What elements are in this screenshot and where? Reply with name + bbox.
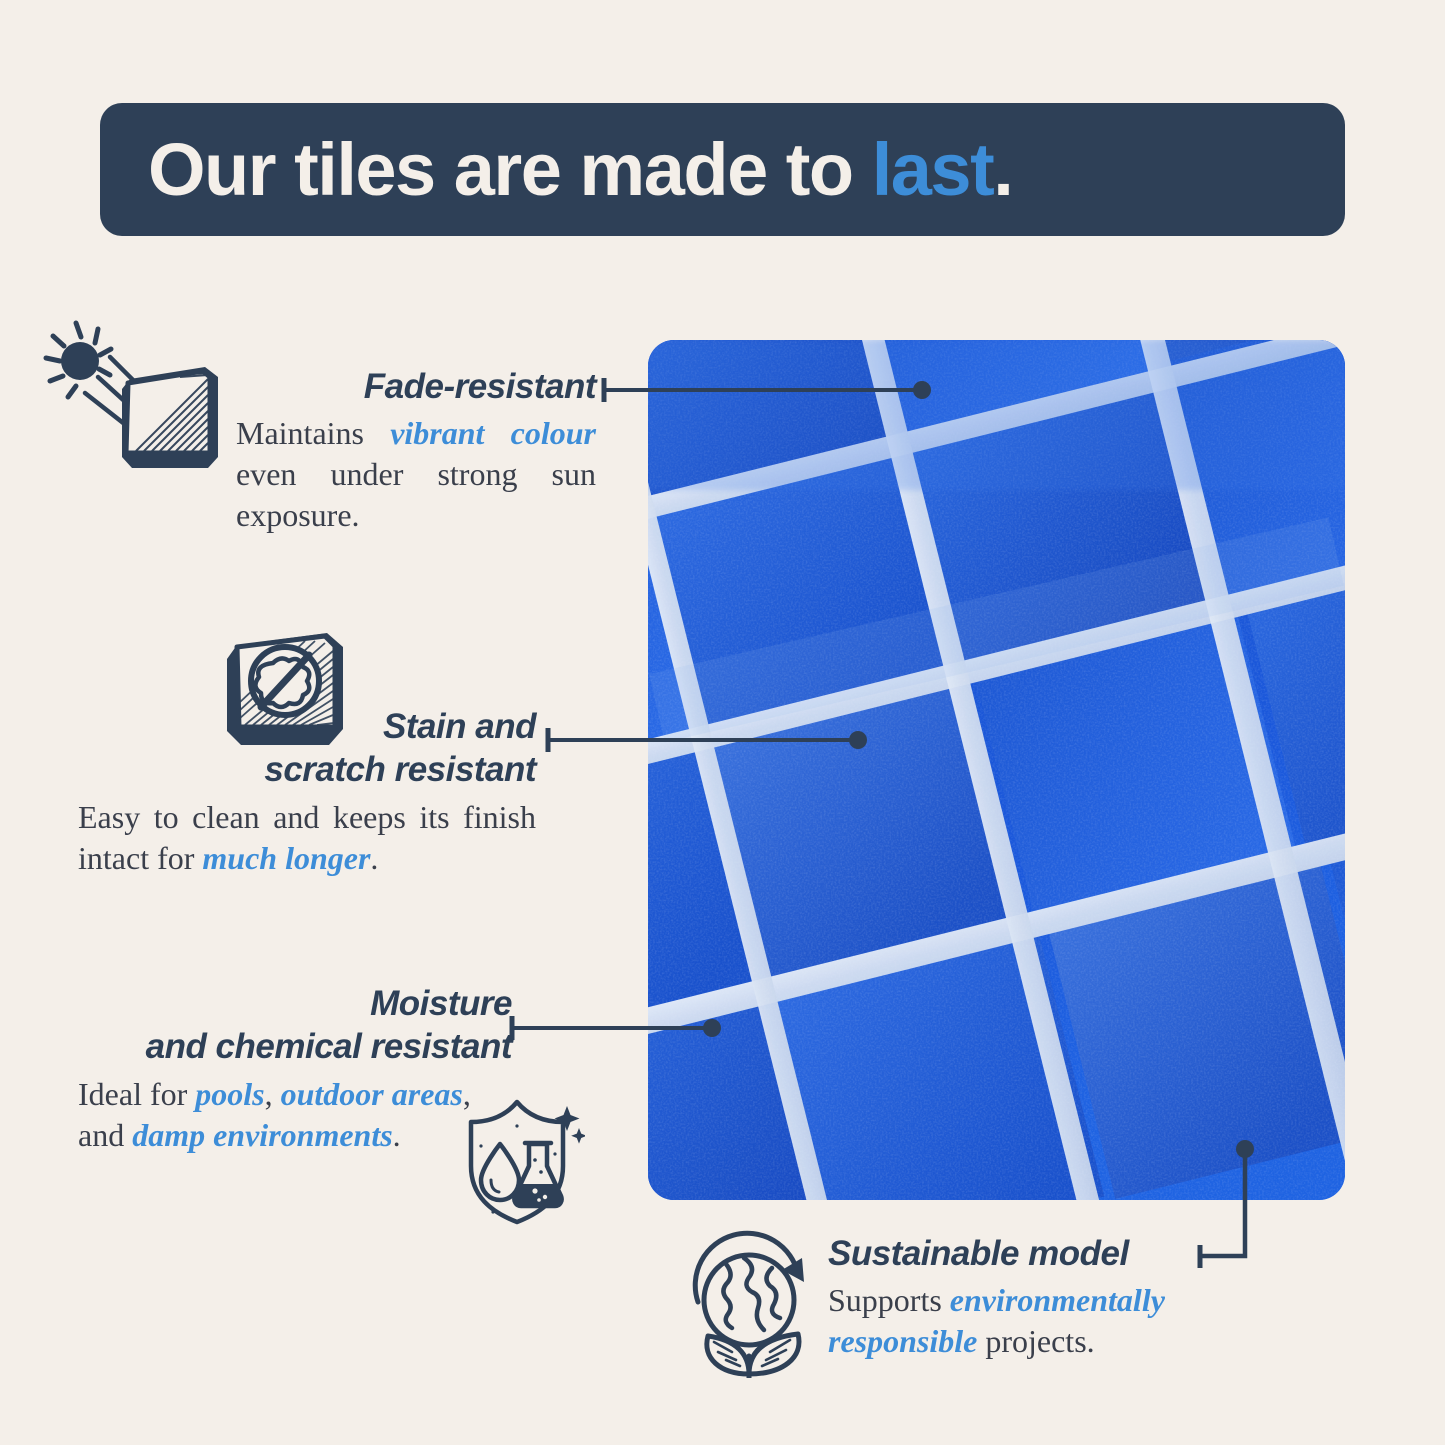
feature-fade-resistant: Fade-resistant Maintains vibrant colour … — [236, 365, 596, 536]
page-title: Our tiles are made to last. — [148, 133, 1012, 207]
feature-moisture-heading: Moisture and chemical resistant — [78, 982, 512, 1069]
feature-stain-scratch-resistant: Stain and scratch resistant Easy to clea… — [78, 705, 536, 879]
infographic-canvas: Our tiles are made to last. — [0, 0, 1445, 1445]
body-text-highlight-3: damp environments — [132, 1117, 392, 1153]
connector-fade — [600, 372, 940, 412]
body-text-highlight-1: much longer — [202, 840, 370, 876]
body-text-plain-1: Supports — [828, 1282, 950, 1318]
body-text-highlight-1: pools — [195, 1076, 264, 1112]
tile-photo-render — [648, 340, 1345, 1200]
feature-moisture-heading-line1: Moisture — [78, 982, 512, 1025]
title-accent: last — [872, 128, 994, 211]
connector-moisture — [508, 1010, 738, 1050]
feature-fade-heading: Fade-resistant — [236, 365, 596, 408]
feature-moisture-chemical-resistant: Moisture and chemical resistant Ideal fo… — [78, 982, 512, 1156]
feature-stain-heading-line2: scratch resistant — [78, 748, 536, 791]
feature-moisture-heading-line2: and chemical resistant — [78, 1025, 512, 1068]
feature-stain-heading: Stain and scratch resistant — [78, 705, 536, 792]
connector-stain — [544, 722, 884, 762]
body-text-plain-1: Ideal for — [78, 1076, 195, 1112]
globe-leaves-recycle-icon — [686, 1228, 821, 1378]
sun-fade-tile-icon — [40, 305, 230, 480]
feature-sustainable-model: Sustainable model Supports environmental… — [828, 1232, 1236, 1362]
body-text-plain-4: . — [393, 1117, 401, 1153]
feature-sustain-body: Supports environmentally responsible pro… — [828, 1280, 1236, 1362]
body-text-plain-2: . — [370, 840, 378, 876]
header-banner: Our tiles are made to last. — [100, 103, 1345, 236]
feature-stain-heading-line1: Stain and — [78, 705, 536, 748]
body-text-plain-2: , — [265, 1076, 281, 1112]
body-text-plain-2: even under strong sun exposure. — [236, 456, 596, 533]
body-text-highlight-1: vibrant colour — [390, 415, 596, 451]
body-text-plain-1: Maintains — [236, 415, 390, 451]
title-period: . — [993, 128, 1012, 211]
feature-moisture-body: Ideal for pools, outdoor areas, and damp… — [78, 1074, 512, 1156]
feature-sustain-heading: Sustainable model — [828, 1232, 1236, 1275]
body-text-highlight-2: outdoor areas — [281, 1076, 463, 1112]
title-plain: Our tiles are made to — [148, 128, 872, 211]
tile-photo — [648, 340, 1345, 1200]
feature-fade-body: Maintains vibrant colour even under stro… — [236, 413, 596, 536]
feature-stain-body: Easy to clean and keeps its finish intac… — [78, 797, 536, 879]
body-text-plain-2: projects. — [977, 1323, 1094, 1359]
